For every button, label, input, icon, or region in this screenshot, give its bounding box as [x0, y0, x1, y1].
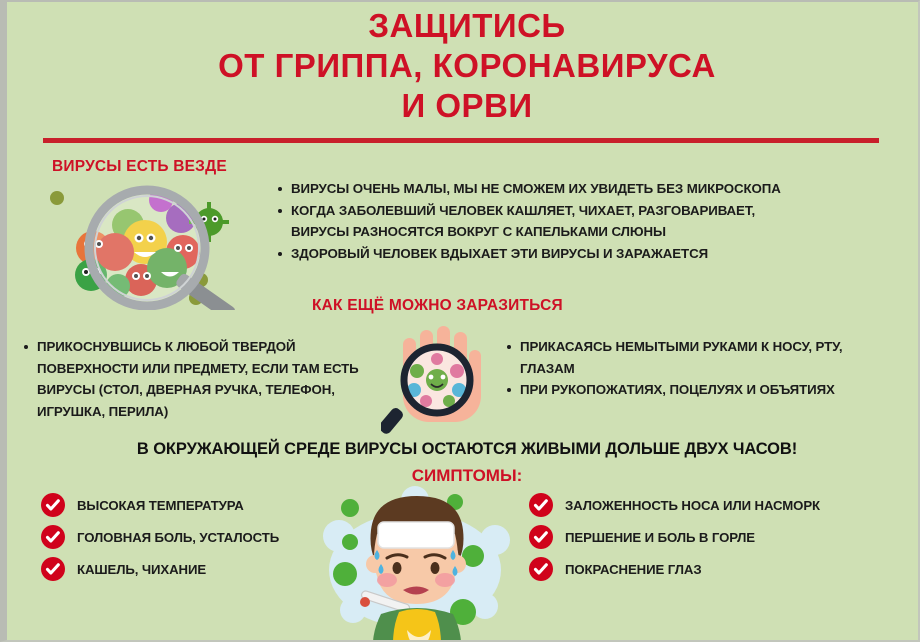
list-item: ВЫСОКАЯ ТЕМПЕРАТУРА	[41, 489, 331, 521]
viruses-everywhere-bullet-list: ВИРУСЫ ОЧЕНЬ МАЛЫ, МЫ НЕ СМОЖЕМ ИХ УВИДЕ…	[275, 178, 915, 264]
list-item: ПОКРАСНЕНИЕ ГЛАЗ	[529, 553, 899, 585]
list-item-label: ИГРУШКА, ПЕРИЛА)	[37, 404, 168, 419]
poster-canvas: ЗАЩИТИСЬ ОТ ГРИППА, КОРОНАВИРУСА И ОРВИ …	[0, 0, 920, 642]
bullet-dot	[278, 209, 282, 213]
list-item: ЗАЛОЖЕННОСТЬ НОСА ИЛИ НАСМОРК	[529, 489, 899, 521]
list-item-continuation: ГЛАЗАМ	[504, 358, 914, 380]
check-circle-icon	[529, 557, 553, 581]
list-item-label: ПЕРШЕНИЕ И БОЛЬ В ГОРЛЕ	[565, 530, 755, 545]
list-item: ПРИКАСАЯСЬ НЕМЫТЫМИ РУКАМИ К НОСУ, РТУ,	[504, 336, 914, 358]
title-divider	[43, 138, 879, 143]
title-line-1: ЗАЩИТИСЬ	[7, 6, 920, 46]
check-circle-icon	[529, 493, 553, 517]
check-circle-icon	[529, 525, 553, 549]
list-item-label: ГОЛОВНАЯ БОЛЬ, УСТАЛОСТЬ	[77, 530, 279, 545]
title-line-2: ОТ ГРИППА, КОРОНАВИРУСА	[7, 46, 920, 86]
list-item: ЗДОРОВЫЙ ЧЕЛОВЕК ВДЫХАЕТ ЭТИ ВИРУСЫ И ЗА…	[275, 243, 915, 265]
list-item: ПЕРШЕНИЕ И БОЛЬ В ГОРЛЕ	[529, 521, 899, 553]
list-item-label: ВИРУСЫ (СТОЛ, ДВЕРНАЯ РУЧКА, ТЕЛЕФОН,	[37, 382, 335, 397]
check-circle-icon	[41, 557, 65, 581]
list-item-label: ЗАЛОЖЕННОСТЬ НОСА ИЛИ НАСМОРК	[565, 498, 820, 513]
list-item-label: КАШЕЛЬ, ЧИХАНИЕ	[77, 562, 206, 577]
list-item-label: ПОКРАСНЕНИЕ ГЛАЗ	[565, 562, 702, 577]
list-item-label: КОГДА ЗАБОЛЕВШИЙ ЧЕЛОВЕК КАШЛЯЕТ, ЧИХАЕТ…	[291, 203, 755, 218]
list-item-label: ПРИКОСНУВШИСЬ К ЛЮБОЙ ТВЕРДОЙ	[37, 339, 295, 354]
germs-under-magnifier-icon	[33, 180, 265, 310]
hand-with-magnifier-icon	[381, 324, 503, 436]
bullet-dot	[278, 187, 282, 191]
list-item: ГОЛОВНАЯ БОЛЬ, УСТАЛОСТЬ	[41, 521, 331, 553]
list-item-label: ВИРУСЫ РАЗНОСЯТСЯ ВОКРУГ С КАПЕЛЬКАМИ СЛ…	[291, 224, 666, 239]
bullet-dot	[507, 345, 511, 349]
list-item-label: ПРИ РУКОПОЖАТИЯХ, ПОЦЕЛУЯХ И ОБЪЯТИЯХ	[520, 382, 835, 397]
list-item-continuation: ПОВЕРХНОСТИ ИЛИ ПРЕДМЕТУ, ЕСЛИ ТАМ ЕСТЬ	[21, 358, 369, 380]
how-infected-right-list: ПРИКАСАЯСЬ НЕМЫТЫМИ РУКАМИ К НОСУ, РТУ, …	[504, 336, 914, 401]
symptoms-left-list: ВЫСОКАЯ ТЕМПЕРАТУРА ГОЛОВНАЯ БОЛЬ, УСТАЛ…	[41, 489, 331, 585]
section-heading-how-to-get-infected: КАК ЕЩЁ МОЖНО ЗАРАЗИТЬСЯ	[312, 297, 563, 315]
list-item-label: ВИРУСЫ ОЧЕНЬ МАЛЫ, МЫ НЕ СМОЖЕМ ИХ УВИДЕ…	[291, 181, 781, 196]
list-item-continuation: ИГРУШКА, ПЕРИЛА)	[21, 401, 369, 423]
list-item-label: ВЫСОКАЯ ТЕМПЕРАТУРА	[77, 498, 244, 513]
title-line-3: И ОРВИ	[7, 86, 920, 126]
check-circle-icon	[41, 525, 65, 549]
survival-time-banner: В ОКРУЖАЮЩЕЙ СРЕДЕ ВИРУСЫ ОСТАЮТСЯ ЖИВЫМ…	[7, 440, 920, 459]
list-item-label: ЗДОРОВЫЙ ЧЕЛОВЕК ВДЫХАЕТ ЭТИ ВИРУСЫ И ЗА…	[291, 246, 708, 261]
list-item-label: ПОВЕРХНОСТИ ИЛИ ПРЕДМЕТУ, ЕСЛИ ТАМ ЕСТЬ	[37, 361, 359, 376]
list-item: ПРИКОСНУВШИСЬ К ЛЮБОЙ ТВЕРДОЙ	[21, 336, 369, 358]
sick-boy-with-thermometer-icon	[315, 478, 520, 642]
list-item-continuation: ВИРУСЫ (СТОЛ, ДВЕРНАЯ РУЧКА, ТЕЛЕФОН,	[21, 379, 369, 401]
symptoms-right-list: ЗАЛОЖЕННОСТЬ НОСА ИЛИ НАСМОРК ПЕРШЕНИЕ И…	[529, 489, 899, 585]
list-item: ВИРУСЫ ОЧЕНЬ МАЛЫ, МЫ НЕ СМОЖЕМ ИХ УВИДЕ…	[275, 178, 915, 200]
list-item: КОГДА ЗАБОЛЕВШИЙ ЧЕЛОВЕК КАШЛЯЕТ, ЧИХАЕТ…	[275, 200, 915, 222]
section-heading-viruses-everywhere: ВИРУСЫ ЕСТЬ ВЕЗДЕ	[52, 158, 227, 176]
list-item-continuation: ВИРУСЫ РАЗНОСЯТСЯ ВОКРУГ С КАПЕЛЬКАМИ СЛ…	[275, 221, 915, 243]
check-circle-icon	[41, 493, 65, 517]
list-item: ПРИ РУКОПОЖАТИЯХ, ПОЦЕЛУЯХ И ОБЪЯТИЯХ	[504, 379, 914, 401]
list-item: КАШЕЛЬ, ЧИХАНИЕ	[41, 553, 331, 585]
bullet-dot	[24, 345, 28, 349]
bullet-dot	[278, 252, 282, 256]
bullet-dot	[507, 388, 511, 392]
list-item-label: ПРИКАСАЯСЬ НЕМЫТЫМИ РУКАМИ К НОСУ, РТУ,	[520, 339, 842, 354]
how-infected-left-list: ПРИКОСНУВШИСЬ К ЛЮБОЙ ТВЕРДОЙ ПОВЕРХНОСТ…	[21, 336, 369, 422]
page-title: ЗАЩИТИСЬ ОТ ГРИППА, КОРОНАВИРУСА И ОРВИ	[7, 6, 920, 126]
list-item-label: ГЛАЗАМ	[520, 361, 575, 376]
